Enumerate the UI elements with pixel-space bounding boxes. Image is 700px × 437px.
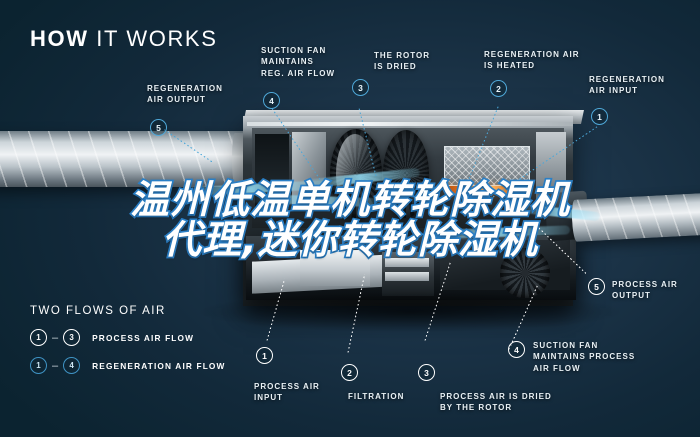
marker-filtration[interactable]: 2 <box>341 364 358 381</box>
legend-row-2-label: REGENERATION AIR FLOW <box>92 361 225 371</box>
callout-filtration-line1: FILTRATION <box>348 391 404 402</box>
callout-regeneration-air-input-line2: AIR INPUT <box>589 85 665 96</box>
callout-filtration: FILTRATION <box>348 391 404 402</box>
page-title-light: IT WORKS <box>96 26 217 51</box>
callout-process-air-dried: PROCESS AIR IS DRIED BY THE ROTOR <box>440 391 552 414</box>
callout-process-air-input-line2: INPUT <box>254 392 320 403</box>
marker-process-air-input[interactable]: 1 <box>256 347 273 364</box>
callout-suction-fan-process-line3: AIR FLOW <box>533 363 635 374</box>
legend-row-2-from-marker: 1 <box>30 357 47 374</box>
callout-regeneration-air-heated-line2: IS HEATED <box>484 60 580 71</box>
legend-row-1-label: PROCESS AIR FLOW <box>92 333 194 343</box>
callout-suction-fan-process-line2: MAINTAINS PROCESS <box>533 351 635 362</box>
callout-suction-fan-reg-line1: SUCTION FAN <box>261 45 335 56</box>
legend-row-1-from-marker: 1 <box>30 329 47 346</box>
legend-heading: TWO FLOWS OF AIR <box>30 305 166 317</box>
callout-suction-fan-reg-line2: MAINTAINS <box>261 56 335 67</box>
watermark-line-2: 代理,迷你转轮除湿机 <box>0 221 700 261</box>
page-title-bold: HOW <box>30 26 89 51</box>
marker-process-air-dried[interactable]: 3 <box>418 364 435 381</box>
marker-regeneration-air-input[interactable]: 1 <box>591 108 608 125</box>
callout-suction-fan-reg: SUCTION FAN MAINTAINS REG. AIR FLOW <box>261 45 335 79</box>
callout-rotor-is-dried: THE ROTOR IS DRIED <box>374 50 430 73</box>
legend-row-process-air-flow: 1 – 3 PROCESS AIR FLOW <box>30 329 194 346</box>
callout-process-air-input-line1: PROCESS AIR <box>254 381 320 392</box>
callout-process-air-output-line1: PROCESS AIR <box>612 279 678 290</box>
callout-rotor-is-dried-line1: THE ROTOR <box>374 50 430 61</box>
infographic-canvas: HOW IT WORKS REGENERATION AIR OUTPUT 5 S… <box>0 0 700 437</box>
callout-suction-fan-reg-line3: REG. AIR FLOW <box>261 68 335 79</box>
callout-process-air-dried-line1: PROCESS AIR IS DRIED <box>440 391 552 402</box>
cabinet-top-rail-graphic <box>247 122 573 126</box>
base-drawer-slot-2-graphic <box>385 272 429 281</box>
callout-regeneration-air-heated-line1: REGENERATION AIR <box>484 49 580 60</box>
marker-rotor-is-dried[interactable]: 3 <box>352 79 369 96</box>
marker-regeneration-air-output[interactable]: 5 <box>150 119 167 136</box>
callout-regeneration-air-output-line1: REGENERATION <box>147 83 223 94</box>
page-title: HOW IT WORKS <box>30 26 217 52</box>
callout-process-air-dried-line2: BY THE ROTOR <box>440 402 552 413</box>
callout-suction-fan-process-line1: SUCTION FAN <box>533 340 635 351</box>
marker-suction-fan-process[interactable]: 4 <box>508 341 525 358</box>
callout-process-air-output-line2: OUTPUT <box>612 290 678 301</box>
callout-regeneration-air-output-line2: AIR OUTPUT <box>147 94 223 105</box>
callout-regeneration-air-input-line1: REGENERATION <box>589 74 665 85</box>
legend-row-1-dash: – <box>52 332 58 344</box>
legend-row-2-dash: – <box>52 360 58 372</box>
marker-regeneration-air-heated[interactable]: 2 <box>490 80 507 97</box>
marker-process-air-output[interactable]: 5 <box>588 278 605 295</box>
legend-row-1-to-marker: 3 <box>63 329 80 346</box>
callout-suction-fan-process: SUCTION FAN MAINTAINS PROCESS AIR FLOW <box>533 340 635 374</box>
legend-row-regeneration-air-flow: 1 – 4 REGENERATION AIR FLOW <box>30 357 226 374</box>
floor-shadow-graphic <box>200 292 620 332</box>
marker-suction-fan-reg[interactable]: 4 <box>263 92 280 109</box>
watermark-line-1: 温州低温单机转轮除湿机 <box>0 181 700 221</box>
callout-regeneration-air-input: REGENERATION AIR INPUT <box>589 74 665 97</box>
watermark-text: 温州低温单机转轮除湿机 代理,迷你转轮除湿机 <box>0 181 700 261</box>
callout-regeneration-air-heated: REGENERATION AIR IS HEATED <box>484 49 580 72</box>
callout-process-air-output: PROCESS AIR OUTPUT <box>612 279 678 302</box>
callout-regeneration-air-output: REGENERATION AIR OUTPUT <box>147 83 223 106</box>
callout-process-air-input: PROCESS AIR INPUT <box>254 381 320 404</box>
callout-rotor-is-dried-line2: IS DRIED <box>374 61 430 72</box>
legend-row-2-to-marker: 4 <box>63 357 80 374</box>
